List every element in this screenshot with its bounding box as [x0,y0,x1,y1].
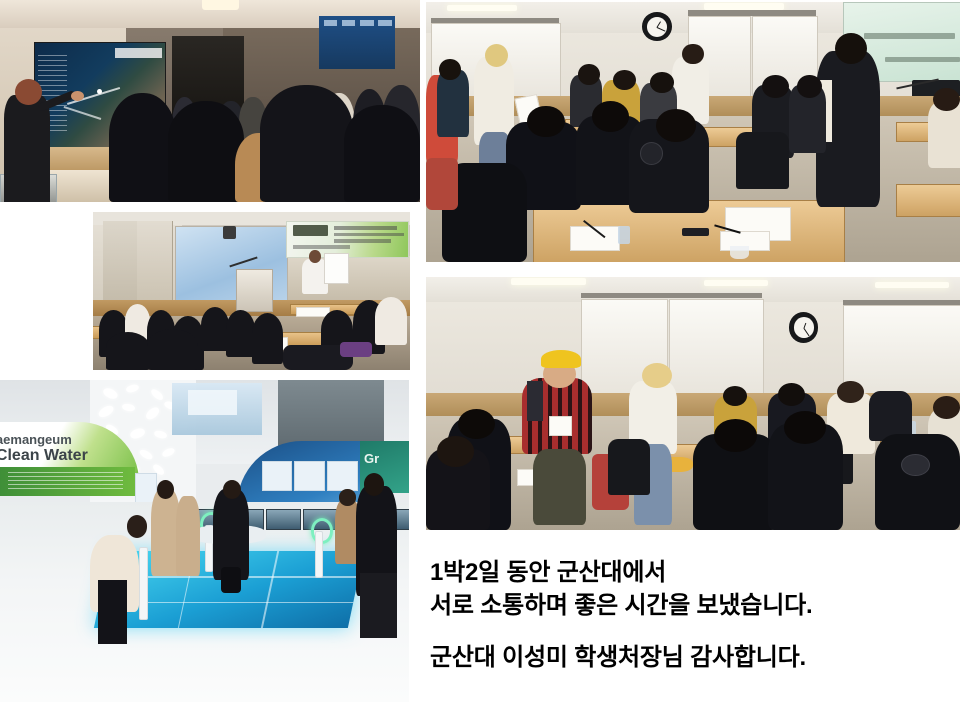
banner-text-line [334,226,397,230]
visitor-boots [221,567,241,593]
info-panel [294,461,325,492]
projection-highlight [188,390,237,416]
student-head [439,59,460,80]
student-head-beanie [656,109,696,143]
student-head [784,411,827,444]
chair [608,439,651,495]
student-head [527,106,564,137]
student-foreground [106,332,150,370]
student-head [714,419,757,452]
map-title-label [115,48,162,58]
visitor-head [127,515,147,538]
clock-minute-hand [804,328,810,336]
ceiling-light [202,0,240,10]
student-head [835,33,867,64]
ceiling-light [875,282,950,288]
caption-block: 1박2일 동안 군산대에서 서로 소통하며 좋은 시간을 보냈습니다. 군산대 … [430,556,950,674]
presenter-head [309,250,320,263]
banner-text-line [293,245,350,249]
signage-line-1: aemangeum [0,432,102,447]
student-head [682,44,703,65]
lectern [236,269,273,312]
collage-slide: aemangeum Clean Water Gr [0,0,960,720]
photo-exhibition-map-briefing [0,0,420,202]
visitor-head [339,489,355,505]
info-panel [262,461,293,492]
student-foreground [875,434,960,530]
purple-bag [340,342,372,358]
photo-lecture-room [93,212,410,370]
chair [736,132,789,189]
photo-classroom-workshop [426,2,960,262]
student [201,307,230,351]
photo-saemangeum-exhibition: aemangeum Clean Water Gr [0,380,409,702]
student-head [837,381,864,404]
jacket-logo [640,142,663,165]
visitor-foreground [109,93,176,202]
clock-face [794,317,814,337]
exhibit-monitor [266,509,301,530]
green-wall-signage: Gr [364,451,379,466]
visitor-bending-skirt [98,580,127,644]
student-head [933,88,960,111]
visitor-coat [176,496,201,577]
backpack-strap [527,381,543,421]
guide-body [4,95,50,202]
caption-line-3: 군산대 이성미 학생처장님 감사합니다. [430,641,950,674]
student-head [437,436,474,466]
woman-head-blonde [642,363,671,388]
clock-face [647,17,667,37]
saemangeum-signage: aemangeum Clean Water [0,432,102,465]
caption-line-1: 1박2일 동안 군산대에서 [430,556,950,589]
window-blind [669,299,764,402]
banner-text-line [334,239,391,243]
banner-logo [293,225,328,236]
ceiling-light [704,280,768,286]
interactive-post [139,547,148,620]
student-head [458,409,495,439]
interactive-post [315,531,324,578]
standing-banner [319,16,395,69]
map-annotation-line [64,106,102,119]
slide-text-line [864,33,955,39]
visitor-foreground [260,85,352,202]
name-badge [549,416,572,436]
student-head [933,396,960,419]
info-panel [327,461,358,492]
desk [896,184,960,217]
ceiling-light [447,5,516,12]
map-marker-dot [97,89,102,94]
caption-line-2: 서로 소통하며 좋은 시간을 보냈습니다. [430,589,950,622]
visitor-legs [360,573,397,637]
guide-hand [71,91,84,101]
green-info-text [8,472,123,491]
student [226,310,255,357]
student-head [650,72,673,93]
smartphone [682,228,709,236]
student [252,313,284,364]
student-foreground [147,329,198,370]
caption-spacer [430,622,950,641]
visitor-foreground [168,101,244,202]
photo-classroom-session [426,277,960,530]
wall-speaker [223,226,236,239]
ceiling-light [511,278,586,284]
visitor-foreground [344,105,420,202]
water-bottle [618,226,630,244]
slide-text-line [885,57,960,62]
student-head [778,383,805,406]
clock-minute-hand [657,27,666,32]
student-head [578,64,599,85]
student-head [797,75,822,98]
signage-line-2: Clean Water [0,447,102,465]
student [375,297,407,344]
presenter-poster [324,253,348,283]
presenter-head-blonde [485,44,508,67]
paper-cup [730,246,748,259]
student-head [762,75,789,98]
yellow-hard-hat [541,350,581,368]
man-pants [533,449,586,525]
banner-text-line [334,233,404,237]
student-head [592,101,629,132]
red-bag [426,158,458,210]
